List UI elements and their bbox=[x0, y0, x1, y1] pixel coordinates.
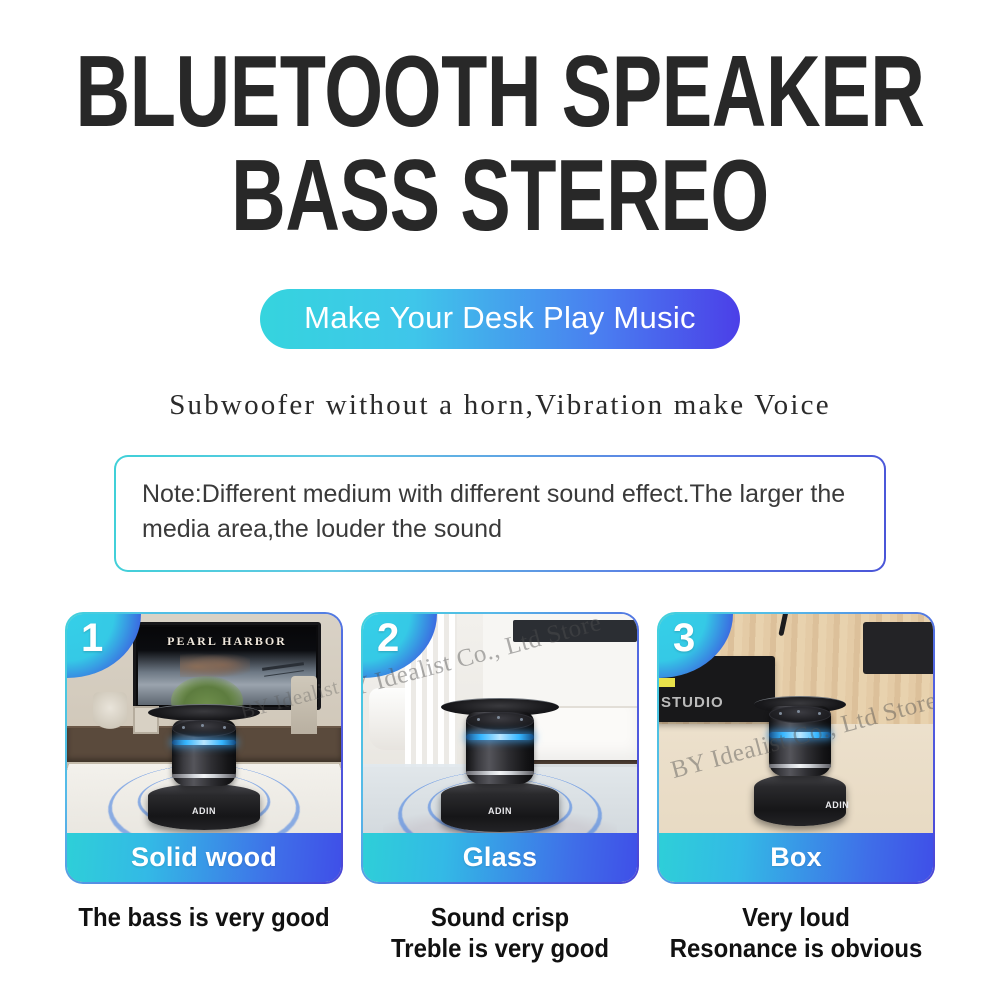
speaker-led-ring bbox=[172, 740, 236, 745]
speaker-top bbox=[466, 712, 534, 730]
tv-movie-title: PEARL HARBOR bbox=[136, 634, 318, 649]
bluetooth-speaker: ADIN bbox=[667, 700, 933, 826]
speaker-top-dot bbox=[797, 710, 800, 713]
headline-line-2: BASS STEREO bbox=[60, 146, 940, 245]
scenario-card-3[interactable]: STUDIO ADIN BY Idealist Co., Ltd St bbox=[657, 612, 935, 884]
speaker-top-dot bbox=[182, 726, 185, 729]
speaker-top-dot bbox=[779, 712, 782, 715]
card-label-bar: Solid wood bbox=[67, 833, 341, 882]
note-box-inner: Note:Different medium with different sou… bbox=[116, 457, 884, 570]
bluetooth-speaker: ADIN bbox=[363, 702, 637, 832]
box-sticker bbox=[659, 678, 675, 687]
card-label-text: Solid wood bbox=[131, 842, 277, 873]
card-label-text: Glass bbox=[463, 842, 538, 873]
speaker-top-dot bbox=[497, 716, 500, 719]
note-text: Note:Different medium with different sou… bbox=[142, 477, 858, 548]
card-number: 3 bbox=[673, 616, 695, 661]
scenario-card-2-inner: ADIN BY Idealist Co., Ltd Store 2 Glass bbox=[363, 614, 637, 882]
card-label-text: Box bbox=[770, 842, 822, 873]
dark-panel bbox=[513, 620, 637, 642]
scenario-card-1[interactable]: PEARL HARBOR ADIN bbox=[65, 612, 343, 884]
subtitle: Subwoofer without a horn,Vibration make … bbox=[0, 389, 1000, 422]
speaker-led-ring bbox=[466, 734, 534, 740]
speaker-led-ring bbox=[769, 732, 831, 738]
speaker-top-dot bbox=[818, 712, 821, 715]
page-title: BLUETOOTH SPEAKER BASS STEREO bbox=[0, 0, 1000, 231]
brand-logo: ADIN bbox=[488, 806, 512, 816]
speaker-top bbox=[172, 720, 236, 737]
card-caption-1: The bass is very good bbox=[76, 902, 332, 965]
card-label-bar: Box bbox=[659, 833, 933, 882]
bluetooth-speaker: ADIN bbox=[67, 708, 341, 830]
scenario-card-1-inner: PEARL HARBOR ADIN bbox=[67, 614, 341, 882]
card-number: 1 bbox=[81, 616, 103, 661]
tagline-container: Make Your Desk Play Music bbox=[0, 289, 1000, 349]
speaker-body bbox=[172, 720, 236, 786]
speaker-top-dot bbox=[223, 726, 226, 729]
tv-figures bbox=[180, 651, 250, 677]
speaker-chrome-ring bbox=[172, 774, 236, 778]
scenario-card-3-inner: STUDIO ADIN BY Idealist Co., Ltd St bbox=[659, 614, 933, 882]
brand-logo: ADIN bbox=[192, 806, 216, 816]
card-caption-3: Very loudResonance is obvious bbox=[668, 902, 924, 965]
speaker-body bbox=[466, 712, 534, 784]
speaker-chrome-ring bbox=[769, 764, 831, 768]
speaker-top-dot bbox=[477, 718, 480, 721]
speaker-chrome-ring bbox=[466, 771, 534, 775]
card-captions: The bass is very good Sound crispTreble … bbox=[0, 902, 1000, 965]
box-right bbox=[863, 622, 933, 674]
card-label-bar: Glass bbox=[363, 833, 637, 882]
speaker-top-dot bbox=[201, 724, 204, 727]
speaker-body bbox=[769, 706, 831, 776]
speaker-top bbox=[769, 706, 831, 723]
headline-line-1: BLUETOOTH SPEAKER bbox=[60, 42, 940, 141]
tagline-pill: Make Your Desk Play Music bbox=[260, 289, 740, 349]
card-number: 2 bbox=[377, 616, 399, 661]
card-caption-2: Sound crispTreble is very good bbox=[372, 902, 628, 965]
brand-logo: ADIN bbox=[825, 800, 849, 810]
usage-scenario-cards: PEARL HARBOR ADIN bbox=[0, 612, 1000, 884]
speaker-top-dot bbox=[520, 718, 523, 721]
note-box: Note:Different medium with different sou… bbox=[114, 455, 886, 572]
speaker-base-top bbox=[148, 704, 260, 721]
scenario-card-2[interactable]: ADIN BY Idealist Co., Ltd Store 2 Glass bbox=[361, 612, 639, 884]
